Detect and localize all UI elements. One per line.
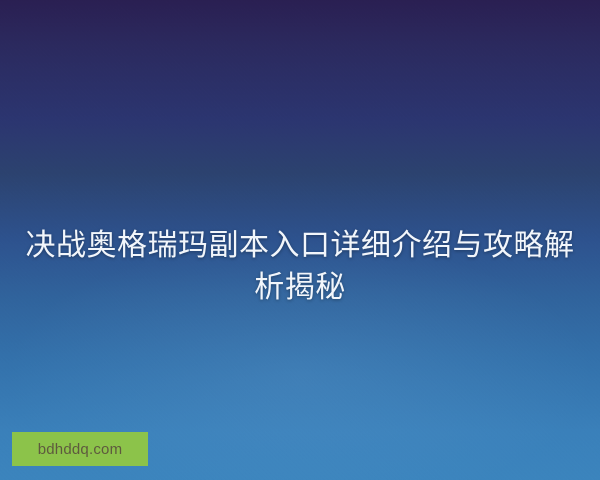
watermark-badge: bdhddq.com — [12, 432, 148, 466]
title-card: 决战奥格瑞玛副本入口详细介绍与攻略解析揭秘 bdhddq.com — [0, 0, 600, 480]
page-title: 决战奥格瑞玛副本入口详细介绍与攻略解析揭秘 — [0, 225, 600, 309]
watermark-label: bdhddq.com — [38, 442, 123, 457]
